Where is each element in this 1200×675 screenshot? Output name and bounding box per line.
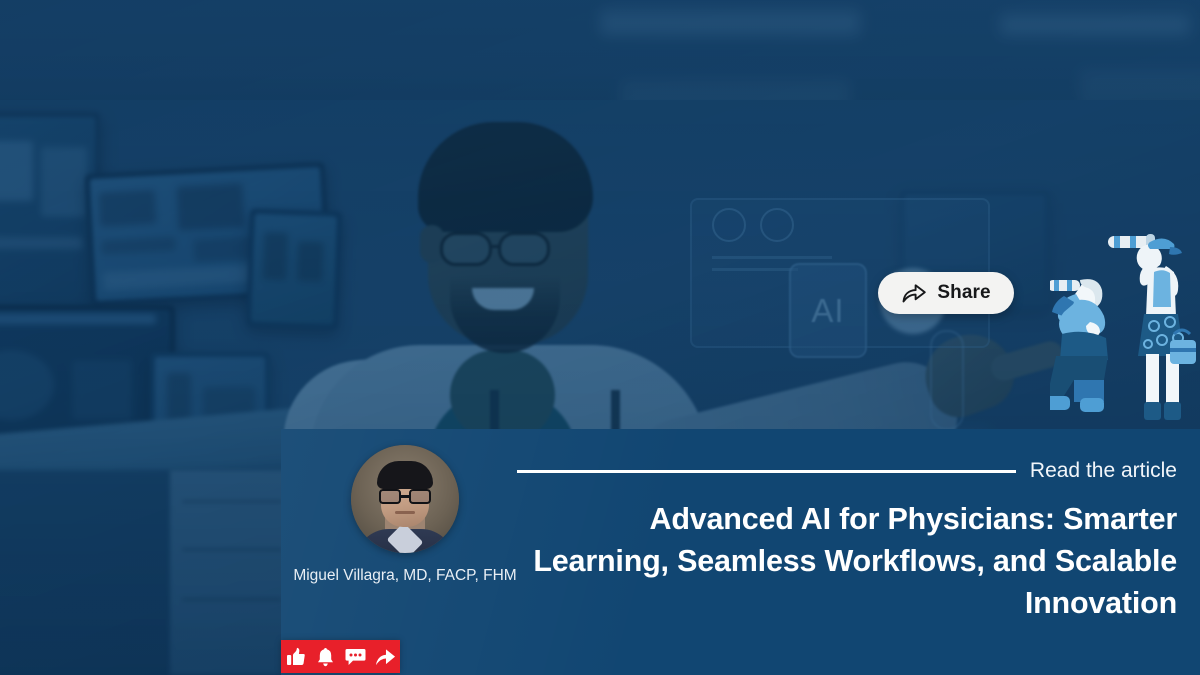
avatar-glasses-icon xyxy=(379,489,431,504)
comment-icon[interactable] xyxy=(345,646,366,667)
eyebrow-row: Read the article xyxy=(517,459,1177,483)
engagement-bar[interactable] xyxy=(281,640,400,673)
thumbs-up-icon[interactable] xyxy=(285,646,306,667)
share-arrow-icon[interactable] xyxy=(375,646,396,667)
eyebrow-label: Read the article xyxy=(1030,459,1177,483)
article-title-block: Read the article Advanced AI for Physici… xyxy=(517,459,1177,624)
avatar-mouth xyxy=(395,511,415,514)
author-avatar xyxy=(351,445,459,553)
slide-canvas: AI Share xyxy=(0,0,1200,675)
share-button[interactable]: Share xyxy=(878,272,1014,314)
share-arrow-icon xyxy=(901,282,927,304)
article-headline: Advanced AI for Physicians: Smarter Lear… xyxy=(517,499,1177,624)
two-people-with-telescopes-illustration xyxy=(1050,218,1200,430)
article-panel: Miguel Villagra, MD, FACP, FHM Read the … xyxy=(281,429,1200,675)
author-block: Miguel Villagra, MD, FACP, FHM xyxy=(295,445,515,585)
author-name: Miguel Villagra, MD, FACP, FHM xyxy=(293,567,516,585)
kneeling-person-with-telescope xyxy=(1050,279,1108,412)
eyebrow-rule xyxy=(517,470,1016,473)
standing-person-with-telescope xyxy=(1108,234,1196,420)
avatar-hair xyxy=(377,461,433,489)
share-button-label: Share xyxy=(937,282,990,304)
bell-icon[interactable] xyxy=(315,646,336,667)
